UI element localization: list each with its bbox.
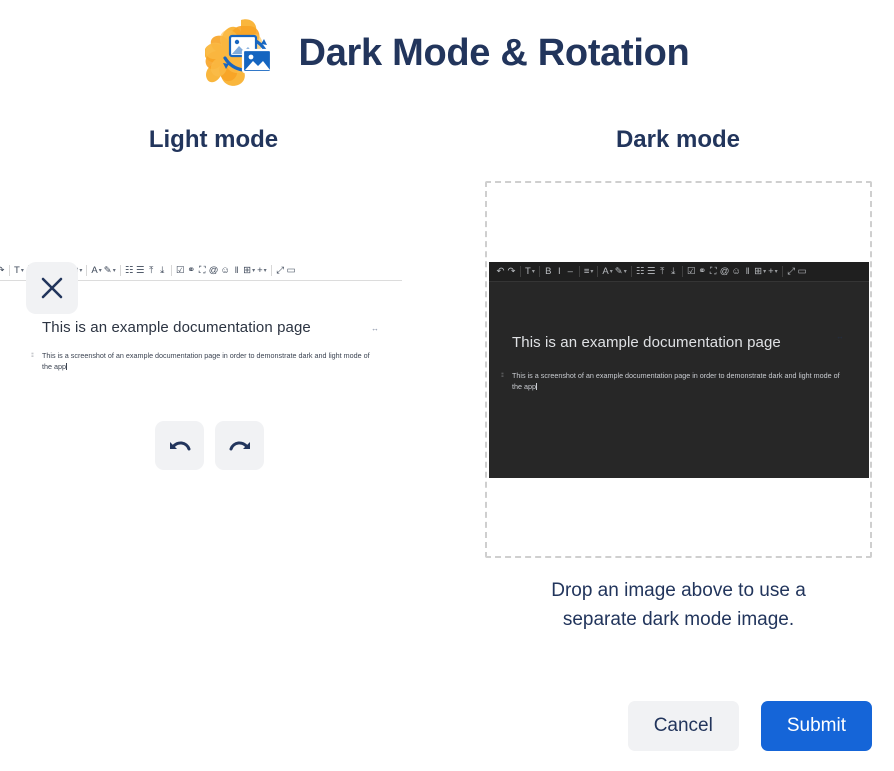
dialog-header: Dark Mode & Rotation: [0, 14, 894, 94]
chevron-down-icon: ▾: [775, 269, 778, 275]
undo-icon[interactable]: ↶: [495, 264, 506, 280]
cancel-button[interactable]: Cancel: [628, 701, 739, 751]
columns-icon[interactable]: ‖: [231, 263, 242, 279]
expand-arrows-icon: ↔: [836, 332, 843, 341]
text-style-icon[interactable]: T▾: [524, 264, 536, 280]
fullscreen-icon[interactable]: ⤢: [275, 263, 286, 279]
toolbar-separator: [579, 266, 580, 277]
close-icon: [37, 273, 67, 303]
text-color-icon[interactable]: A▾: [601, 264, 613, 280]
dark-mode-heading: Dark mode: [452, 126, 894, 154]
dark-mode-rotation-dialog: Dark Mode & Rotation Light mode Dark mod…: [0, 0, 894, 771]
comment-icon[interactable]: ▭: [797, 264, 808, 280]
redo-arrow-icon: [227, 433, 253, 459]
chevron-down-icon: ▾: [624, 269, 627, 275]
link-icon[interactable]: ⚭: [186, 263, 197, 279]
highlight-color-icon[interactable]: ✎▾: [103, 263, 117, 279]
editor-toolbar: ↶↷T▾BI–≡▾A▾✎▾☷☰⤒⤓☑⚭⛶@☺‖⊞▾+▾⤢▭: [489, 262, 869, 282]
page-title: Dark Mode & Rotation: [299, 33, 690, 75]
toolbar-separator: [631, 266, 632, 277]
emoji-icon[interactable]: ☺: [730, 264, 742, 280]
toolbar-separator: [539, 266, 540, 277]
align-text-icon[interactable]: ≡▾: [583, 264, 595, 280]
checklist-icon[interactable]: ☑: [175, 263, 186, 279]
highlight-color-icon[interactable]: ✎▾: [614, 264, 628, 280]
text-caret: [66, 363, 67, 370]
toolbar-separator: [782, 266, 783, 277]
drag-handle-icon: ⁞⁞: [31, 351, 33, 362]
bullet-list-icon[interactable]: ☷: [124, 263, 135, 279]
text-style-icon[interactable]: T▾: [13, 263, 25, 279]
document-paragraph-wrap: ⁞⁞This is a screenshot of an example doc…: [42, 350, 372, 372]
chevron-down-icon: ▾: [532, 269, 535, 275]
submit-button[interactable]: Submit: [761, 701, 872, 751]
emoji-icon[interactable]: ☺: [219, 263, 231, 279]
chevron-down-icon: ▾: [113, 268, 116, 274]
table-icon[interactable]: ⊞▾: [753, 264, 767, 280]
redo-icon[interactable]: ↷: [506, 264, 517, 280]
dropzone-hint: Drop an image above to use a separate da…: [485, 576, 872, 635]
numbered-list-icon[interactable]: ☰: [135, 263, 146, 279]
document-paragraph: This is a screenshot of an example docum…: [512, 371, 840, 391]
outdent-icon[interactable]: ⤒: [657, 264, 668, 280]
drag-handle-icon: ⁞⁞: [501, 371, 503, 382]
columns-icon[interactable]: ‖: [742, 264, 753, 280]
indent-icon[interactable]: ⤓: [668, 264, 679, 280]
chevron-down-icon: ▾: [590, 269, 593, 275]
toolbar-separator: [520, 266, 521, 277]
insert-more-icon[interactable]: +▾: [256, 263, 268, 279]
indent-icon[interactable]: ⤓: [157, 263, 168, 279]
rotate-left-button[interactable]: [155, 421, 204, 470]
undo-arrow-icon: [167, 433, 193, 459]
numbered-list-icon[interactable]: ☰: [646, 264, 657, 280]
image-icon[interactable]: ⛶: [708, 264, 719, 280]
text-caret: [536, 383, 537, 390]
dropzone-hint-line1: Drop an image above to use a: [485, 576, 872, 605]
chevron-down-icon: ▾: [252, 268, 255, 274]
mention-icon[interactable]: @: [719, 264, 731, 280]
chevron-down-icon: ▾: [99, 268, 102, 274]
light-mode-heading: Light mode: [0, 126, 427, 154]
chevron-down-icon: ▾: [763, 269, 766, 275]
outdent-icon[interactable]: ⤒: [146, 263, 157, 279]
toolbar-separator: [597, 266, 598, 277]
insert-more-icon[interactable]: +▾: [767, 264, 779, 280]
comment-icon[interactable]: ▭: [286, 263, 297, 279]
text-color-icon[interactable]: A▾: [90, 263, 102, 279]
toolbar-separator: [271, 265, 272, 276]
toolbar-separator: [9, 265, 10, 276]
chevron-down-icon: ▾: [21, 268, 24, 274]
document-paragraph: This is a screenshot of an example docum…: [42, 351, 370, 371]
dialog-footer: Cancel Submit: [628, 701, 872, 751]
italic-icon[interactable]: I: [554, 264, 565, 280]
link-icon[interactable]: ⚭: [697, 264, 708, 280]
document-heading: This is an example documentation page: [512, 334, 781, 351]
image-rotation-logo-icon: [205, 14, 285, 94]
toolbar-separator: [682, 266, 683, 277]
dark-mode-image-preview[interactable]: ↶↷T▾BI–≡▾A▾✎▾☷☰⤒⤓☑⚭⛶@☺‖⊞▾+▾⤢▭ This is an…: [489, 262, 869, 478]
chevron-down-icon: ▾: [610, 269, 613, 275]
toolbar-separator: [86, 265, 87, 276]
chevron-down-icon: ▾: [79, 268, 82, 274]
document-paragraph-wrap: ⁞⁞This is a screenshot of an example doc…: [512, 370, 842, 392]
close-light-image-button[interactable]: [26, 262, 78, 314]
bullet-list-icon[interactable]: ☷: [635, 264, 646, 280]
bold-icon[interactable]: B: [543, 264, 554, 280]
toolbar-separator: [171, 265, 172, 276]
strikethrough-icon[interactable]: –: [565, 264, 576, 280]
image-icon[interactable]: ⛶: [197, 263, 208, 279]
toolbar-separator: [120, 265, 121, 276]
dropzone-hint-line2: separate dark mode image.: [485, 605, 872, 634]
checklist-icon[interactable]: ☑: [686, 264, 697, 280]
chevron-down-icon: ▾: [264, 268, 267, 274]
expand-arrows-icon: ↔: [371, 324, 378, 333]
document-heading: This is an example documentation page: [42, 319, 311, 336]
redo-icon[interactable]: ↷: [0, 263, 6, 279]
fullscreen-icon[interactable]: ⤢: [786, 264, 797, 280]
rotate-right-button[interactable]: [215, 421, 264, 470]
rotation-controls: [155, 421, 264, 470]
mention-icon[interactable]: @: [208, 263, 220, 279]
table-icon[interactable]: ⊞▾: [242, 263, 256, 279]
